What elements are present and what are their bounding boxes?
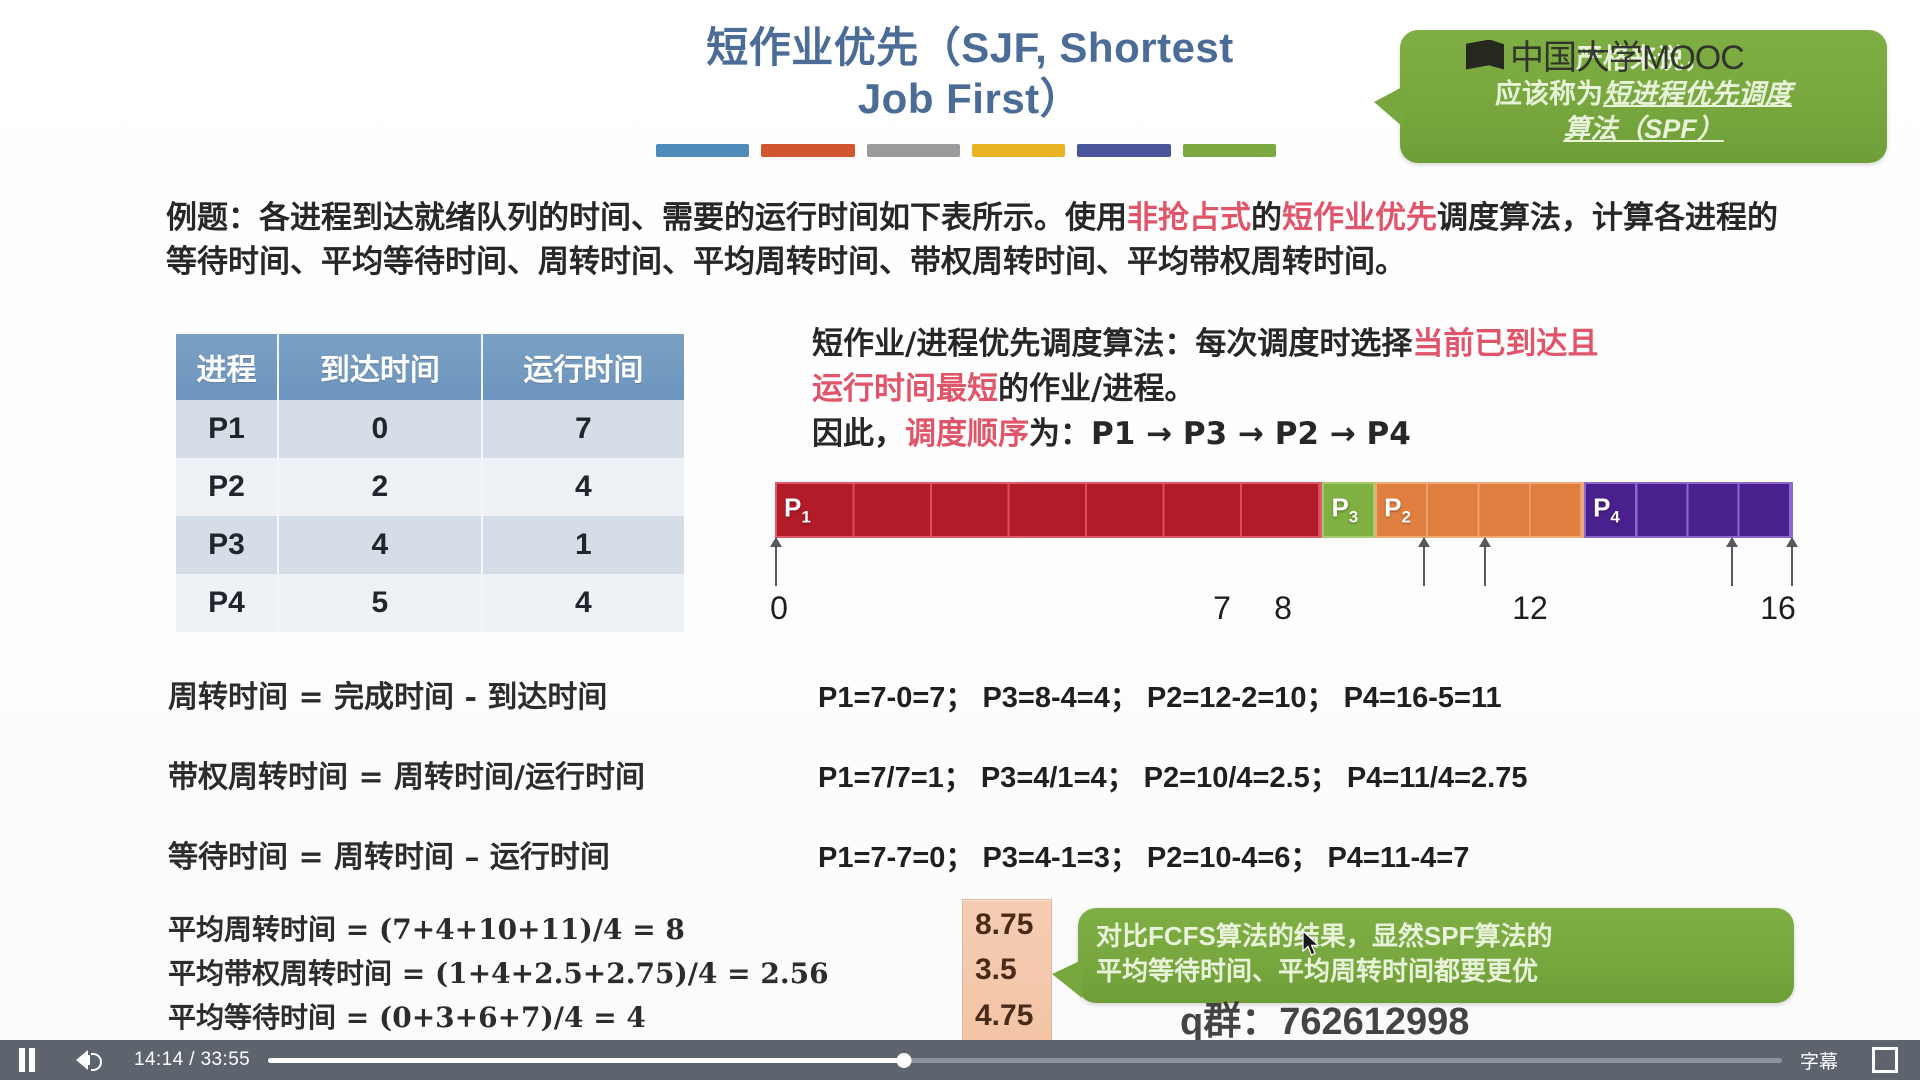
- formula-weighted-turnaround: 带权周转时间 = 周转时间/运行时间: [168, 752, 645, 796]
- axis-tick-12: [1731, 538, 1733, 586]
- qq-group-watermark: q群：762612998: [1180, 990, 1469, 1040]
- table-row: P107: [176, 400, 684, 458]
- formula-waiting: 等待时间 = 周转时间 – 运行时间: [168, 832, 610, 876]
- intro-part-3: 的: [1251, 200, 1282, 236]
- table-row: P454: [176, 574, 684, 632]
- cell-arrival: 2: [278, 458, 482, 516]
- accent-bar-6: [1183, 144, 1276, 157]
- speaker-wave: [91, 1053, 102, 1071]
- col-header-process: 进程: [176, 334, 278, 400]
- gantt-segment-p1: P1: [775, 482, 1322, 538]
- algo-line-1b: 当前已到达且: [1412, 326, 1598, 362]
- average-weighted-turnaround: 平均带权周转时间 = (1+4+2.5+2.75)/4 = 2.56: [168, 952, 829, 992]
- gantt-segment-p3: P3: [1322, 482, 1375, 538]
- volume-icon[interactable]: [76, 1048, 104, 1072]
- algo-line-2a: 运行时间最短: [812, 371, 998, 407]
- calc-turnaround: P1=7-0=7； P3=8-4=4； P2=12-2=10； P4=16-5=…: [818, 674, 1502, 716]
- mooc-label: 中国大学MOOC: [1510, 30, 1744, 79]
- progress-bar[interactable]: [268, 1058, 1782, 1063]
- process-table: 进程 到达时间 运行时间 P107 P224 P341 P454: [176, 334, 684, 632]
- cell-runtime: 7: [482, 400, 684, 458]
- cell-arrival: 0: [278, 400, 482, 458]
- cell-arrival: 5: [278, 574, 482, 632]
- page-title: 短作业优先（SJF, Shortest Job First）: [660, 22, 1280, 124]
- book-icon: [1466, 40, 1504, 70]
- cell-runtime: 1: [482, 516, 684, 574]
- gantt-label-p2: P2: [1384, 492, 1411, 527]
- title-line-2: Job First）: [660, 73, 1280, 124]
- algo-line-3a: 因此，: [812, 416, 905, 452]
- algo-line-1a: 短作业/进程优先调度算法：每次调度时选择: [812, 326, 1412, 362]
- time-display: 14:14 / 33:55: [134, 1049, 250, 1071]
- cell-process: P3: [176, 516, 278, 574]
- video-player-controls: 14:14 / 33:55 字幕: [0, 1040, 1920, 1080]
- col-header-runtime: 运行时间: [482, 334, 684, 400]
- subtitle-button[interactable]: 字幕: [1800, 1047, 1838, 1074]
- gantt-label-p3: P3: [1331, 492, 1358, 527]
- axis-tick-8: [1484, 538, 1486, 586]
- gantt-label-p4: P4: [1593, 492, 1620, 527]
- gantt-segment-p4: P4: [1584, 482, 1793, 538]
- calc-waiting: P1=7-7=0； P3=4-1=3； P2=10-4=6； P4=11-4=7: [818, 834, 1469, 876]
- calc-weighted-turnaround: P1=7/7=1； P3=4/1=4； P2=10/4=2.5； P4=11/4…: [818, 754, 1527, 796]
- gantt-axis: [775, 538, 1793, 590]
- average-turnaround: 平均周转时间 = (7+4+10+11)/4 = 8: [168, 908, 685, 948]
- axis-label-7: 7: [1213, 590, 1231, 627]
- intro-highlight-nonpreemptive: 非抢占式: [1127, 200, 1251, 236]
- exit-fullscreen-icon[interactable]: [1872, 1047, 1898, 1073]
- axis-label-16: 16: [1760, 590, 1796, 627]
- cell-process: P2: [176, 458, 278, 516]
- intro-highlight-sjf: 短作业优先: [1282, 200, 1437, 236]
- accent-bar-2: [761, 144, 854, 157]
- table-row: P224: [176, 458, 684, 516]
- fcfs-comparison-box: 8.75 3.5 4.75: [962, 899, 1052, 1040]
- axis-label-0: 0: [770, 590, 788, 627]
- accent-bar-5: [1077, 144, 1170, 157]
- callout-top-line-3: 算法（SPF）: [1416, 112, 1871, 147]
- algo-line-3c: 为：P1 → P3 → P2 → P4: [1029, 416, 1411, 452]
- pause-bar-right: [29, 1048, 35, 1072]
- fs-corner-br: [1884, 1059, 1898, 1073]
- intro-paragraph: 例题：各进程到达就绪队列的时间、需要的运行时间如下表所示。使用非抢占式的短作业优…: [166, 196, 1786, 284]
- fcfs-value-2: 3.5: [963, 947, 1051, 993]
- intro-part-1: 例题：各进程到达就绪队列的时间、需要的运行时间如下表所示。使用: [166, 200, 1127, 236]
- title-accent-bars: [656, 144, 1276, 160]
- accent-bar-1: [656, 144, 749, 157]
- fcfs-value-3: 4.75: [963, 993, 1051, 1039]
- progress-handle[interactable]: [896, 1053, 911, 1068]
- cell-process: P4: [176, 574, 278, 632]
- cell-runtime: 4: [482, 574, 684, 632]
- axis-tick-16: [1791, 538, 1793, 586]
- callout-bottom-line-1: 对比FCFS算法的结果，显然SPF算法的: [1096, 919, 1776, 954]
- callout-bottom-line-2: 平均等待时间、平均周转时间都要更优: [1096, 954, 1776, 989]
- callout-tail: [1052, 960, 1082, 998]
- pause-bar-left: [19, 1048, 25, 1072]
- gantt-segment-p2: P2: [1375, 482, 1584, 538]
- slide-canvas: 短作业优先（SJF, Shortest Job First） 严格来说， 应该称…: [0, 0, 1920, 1040]
- axis-tick-0: [775, 538, 777, 586]
- callout-fcfs-compare: 对比FCFS算法的结果，显然SPF算法的 平均等待时间、平均周转时间都要更优: [1078, 908, 1794, 1003]
- axis-label-12: 12: [1512, 590, 1548, 627]
- algorithm-description: 短作业/进程优先调度算法：每次调度时选择当前已到达且 运行时间最短的作业/进程。…: [812, 322, 1822, 457]
- cell-process: P1: [176, 400, 278, 458]
- cell-runtime: 4: [482, 458, 684, 516]
- algo-line-2b: 的作业/进程。: [998, 371, 1195, 407]
- col-header-arrival: 到达时间: [278, 334, 482, 400]
- gantt-chart: P1 P3 P2 P4: [775, 482, 1793, 538]
- title-line-1: 短作业优先（SJF, Shortest: [660, 22, 1280, 73]
- formula-turnaround: 周转时间 = 完成时间 - 到达时间: [168, 672, 607, 716]
- accent-bar-3: [867, 144, 960, 157]
- gantt-label-p1: P1: [784, 492, 811, 527]
- table-header-row: 进程 到达时间 运行时间: [176, 334, 684, 400]
- mooc-watermark: 中国大学MOOC: [1466, 30, 1744, 79]
- cell-arrival: 4: [278, 516, 482, 574]
- callout-tail: [1374, 86, 1404, 128]
- axis-label-8: 8: [1274, 590, 1292, 627]
- accent-bar-4: [972, 144, 1065, 157]
- average-waiting: 平均等待时间 = (0+3+6+7)/4 = 4: [168, 996, 646, 1036]
- fcfs-value-1: 8.75: [963, 902, 1051, 948]
- pause-button[interactable]: [16, 1048, 38, 1072]
- speaker-body: [84, 1055, 90, 1065]
- table-row: P341: [176, 516, 684, 574]
- axis-tick-7: [1423, 538, 1425, 586]
- algo-line-3b: 调度顺序: [905, 416, 1029, 452]
- progress-played: [268, 1058, 904, 1063]
- callout-top-line-2: 应该称为短进程优先调度: [1416, 77, 1871, 112]
